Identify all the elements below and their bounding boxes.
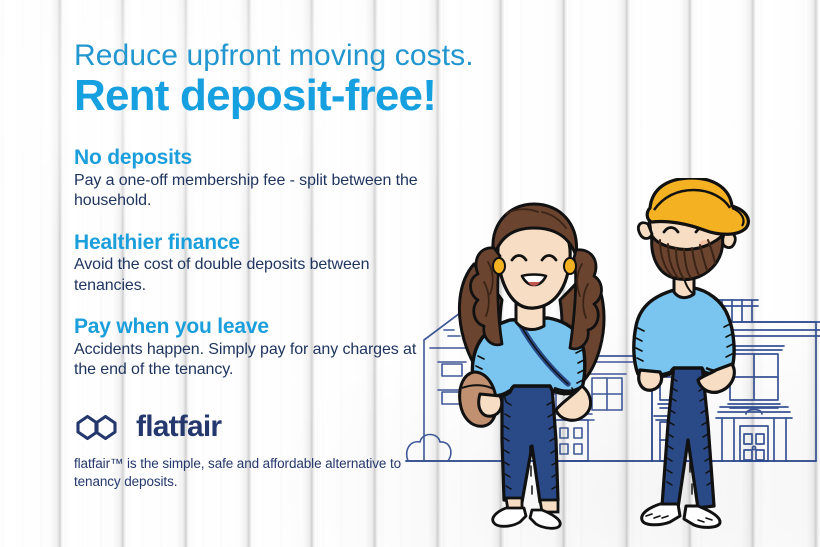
benefit-item-no-deposits: No deposits Pay a one-off membership fee… [74, 146, 434, 211]
couple-in-front-of-houses-illustration [402, 178, 820, 547]
benefit-body: Pay a one-off membership fee - split bet… [74, 171, 434, 212]
text-column: Reduce upfront moving costs. Rent deposi… [74, 40, 434, 381]
headline-text: Rent deposit-free! [74, 74, 434, 119]
kicker-text: Reduce upfront moving costs. [74, 40, 434, 72]
benefit-title: Healthier finance [74, 231, 434, 255]
benefit-body: Avoid the cost of double deposits betwee… [74, 255, 434, 296]
brand-tagline: flatfair™ is the simple, safe and afford… [74, 455, 404, 491]
brand-block: flatfair flatfair™ is the simple, safe a… [74, 410, 404, 504]
benefit-body: Accidents happen. Simply pay for any cha… [74, 340, 434, 381]
benefits-list: No deposits Pay a one-off membership fee… [74, 146, 434, 380]
benefit-title: Pay when you leave [74, 315, 434, 339]
woman-curly-hair-figure [459, 204, 604, 528]
man-with-beard-figure [634, 178, 748, 527]
flatfair-hexagon-house-logo-icon [74, 410, 128, 444]
poster-canvas: Reduce upfront moving costs. Rent deposi… [0, 0, 820, 547]
benefit-item-pay-when-you-leave: Pay when you leave Accidents happen. Sim… [74, 315, 434, 380]
logo-row: flatfair [74, 410, 404, 444]
benefit-item-healthier-finance: Healthier finance Avoid the cost of doub… [74, 231, 434, 296]
benefit-title: No deposits [74, 146, 434, 170]
flatfair-wordmark: flatfair [136, 412, 221, 442]
